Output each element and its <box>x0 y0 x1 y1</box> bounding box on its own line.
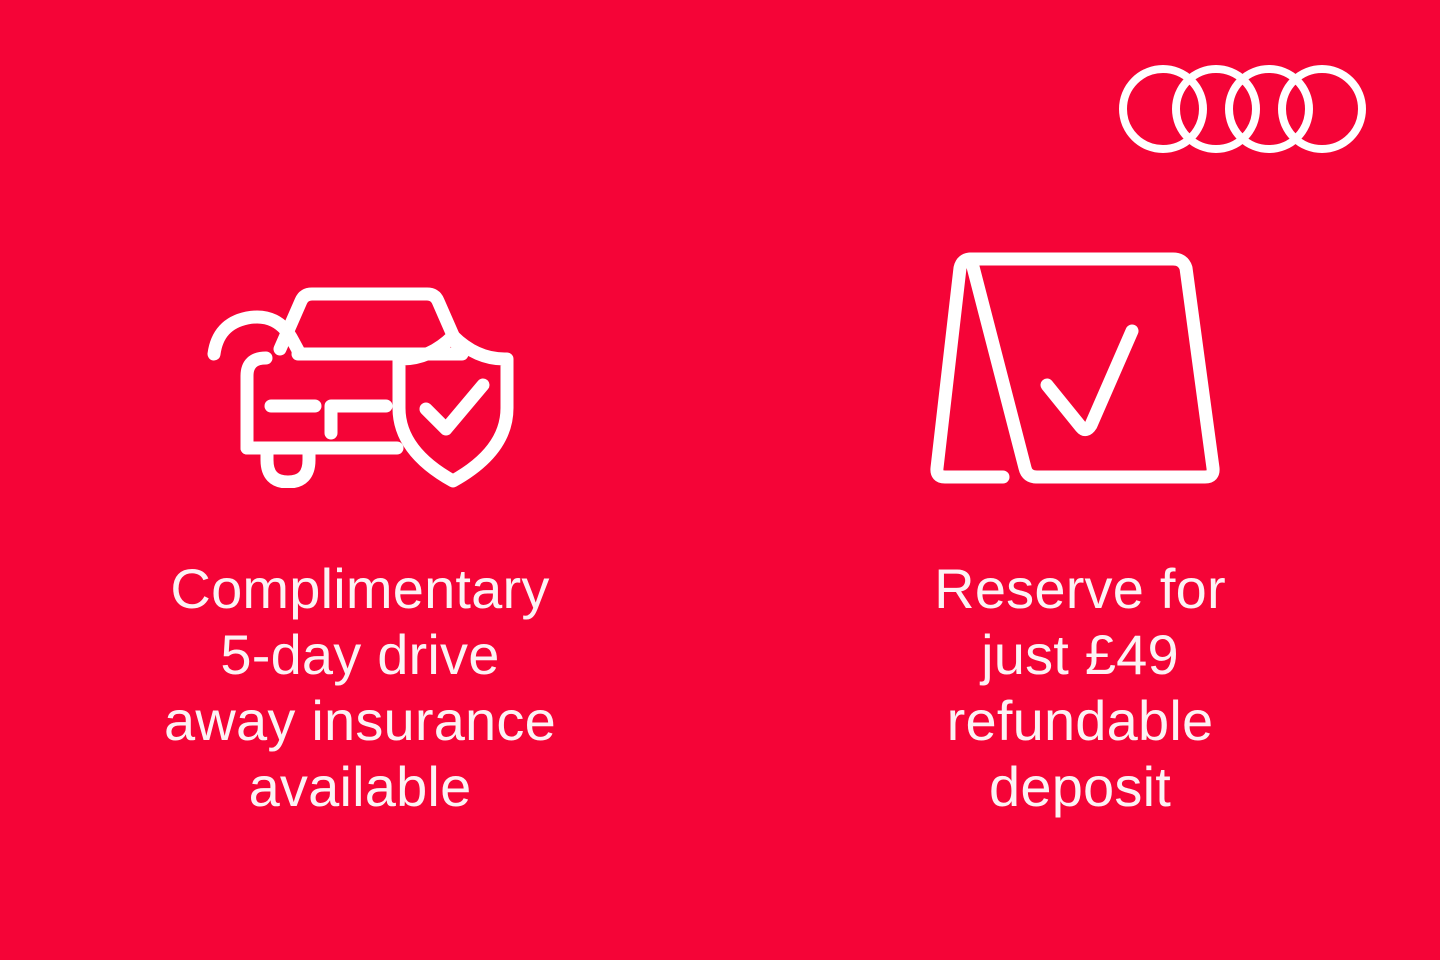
tent-card-checkmark-deposit-icon <box>930 248 1230 488</box>
feature-caption-deposit: Reserve for just £49 refundable deposit <box>860 556 1300 820</box>
car-shield-insurance-icon <box>200 248 520 488</box>
promo-banner: Complimentary 5-day drive away insurance… <box>0 0 1440 960</box>
feature-item-insurance: Complimentary 5-day drive away insurance… <box>0 0 720 820</box>
feature-item-deposit: Reserve for just £49 refundable deposit <box>720 0 1440 820</box>
feature-caption-insurance: Complimentary 5-day drive away insurance… <box>80 556 640 820</box>
feature-list: Complimentary 5-day drive away insurance… <box>0 0 1440 960</box>
